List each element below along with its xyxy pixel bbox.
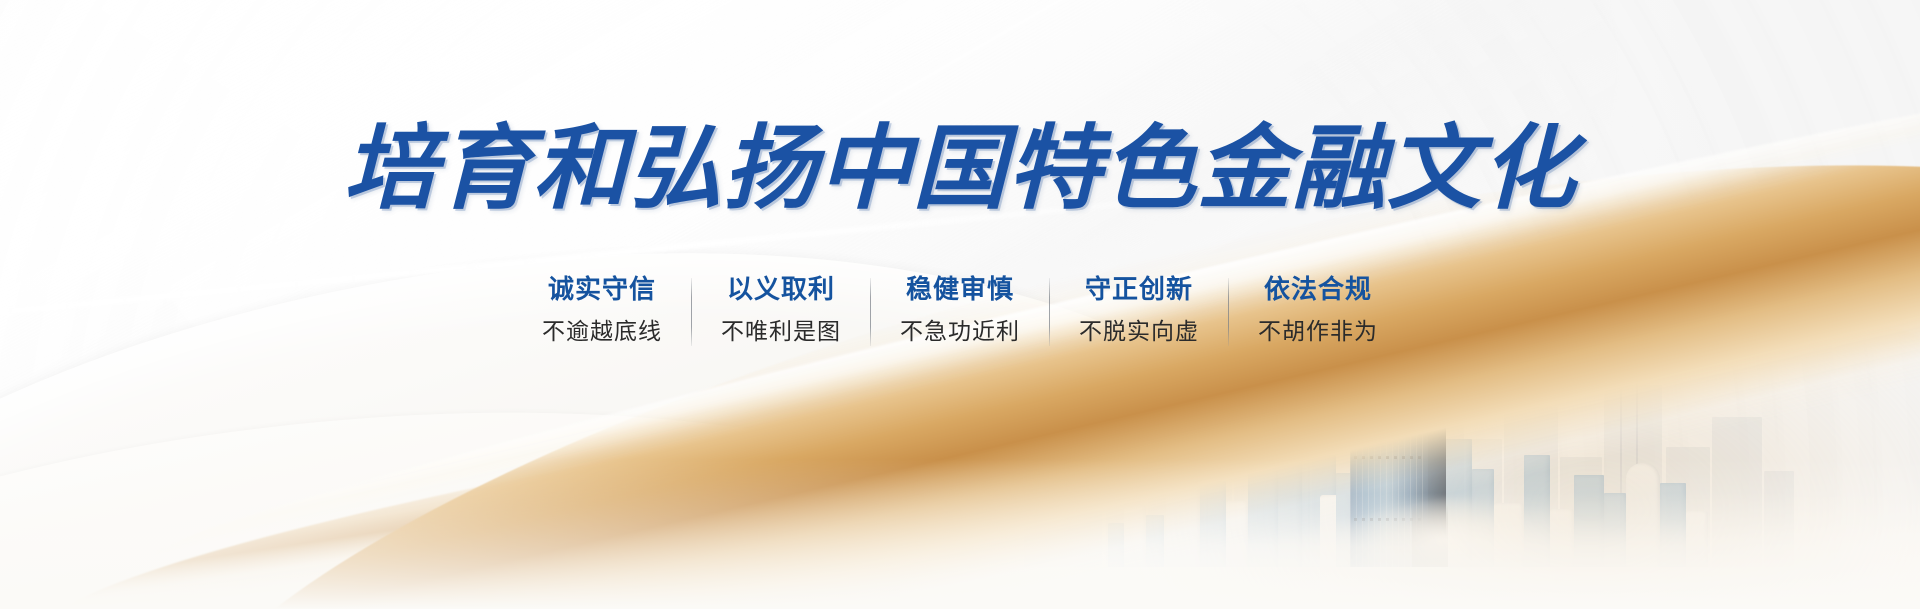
value-column: 守正创新 不脱实向虚 [1064, 276, 1214, 345]
value-divider [1049, 278, 1050, 346]
value-subtext: 不急功近利 [885, 319, 1035, 345]
value-heading: 依法合规 [1243, 276, 1393, 306]
bottom-fade [0, 459, 1920, 609]
value-divider [870, 278, 871, 346]
value-heading: 诚实守信 [527, 276, 677, 306]
value-subtext: 不脱实向虚 [1064, 319, 1214, 345]
value-subtext: 不逾越底线 [527, 319, 677, 345]
value-subtext: 不唯利是图 [706, 319, 856, 345]
value-heading: 守正创新 [1064, 276, 1214, 306]
promotional-banner: 中国银行 培育和弘扬中国特色金融文化 诚实守信 不逾越底线 以义取利 不唯利是图… [0, 0, 1920, 609]
value-subtext: 不胡作非为 [1243, 319, 1393, 345]
value-column: 稳健审慎 不急功近利 [885, 276, 1035, 345]
value-column: 诚实守信 不逾越底线 [527, 276, 677, 345]
value-heading: 稳健审慎 [885, 276, 1035, 306]
page-title: 培育和弘扬中国特色金融文化 [0, 123, 1920, 215]
value-divider [1228, 278, 1229, 346]
value-heading: 以义取利 [706, 276, 856, 306]
value-column: 依法合规 不胡作非为 [1243, 276, 1393, 345]
value-column: 以义取利 不唯利是图 [706, 276, 856, 345]
value-divider [691, 278, 692, 346]
values-row: 诚实守信 不逾越底线 以义取利 不唯利是图 稳健审慎 不急功近利 守正创新 不脱… [0, 276, 1920, 346]
